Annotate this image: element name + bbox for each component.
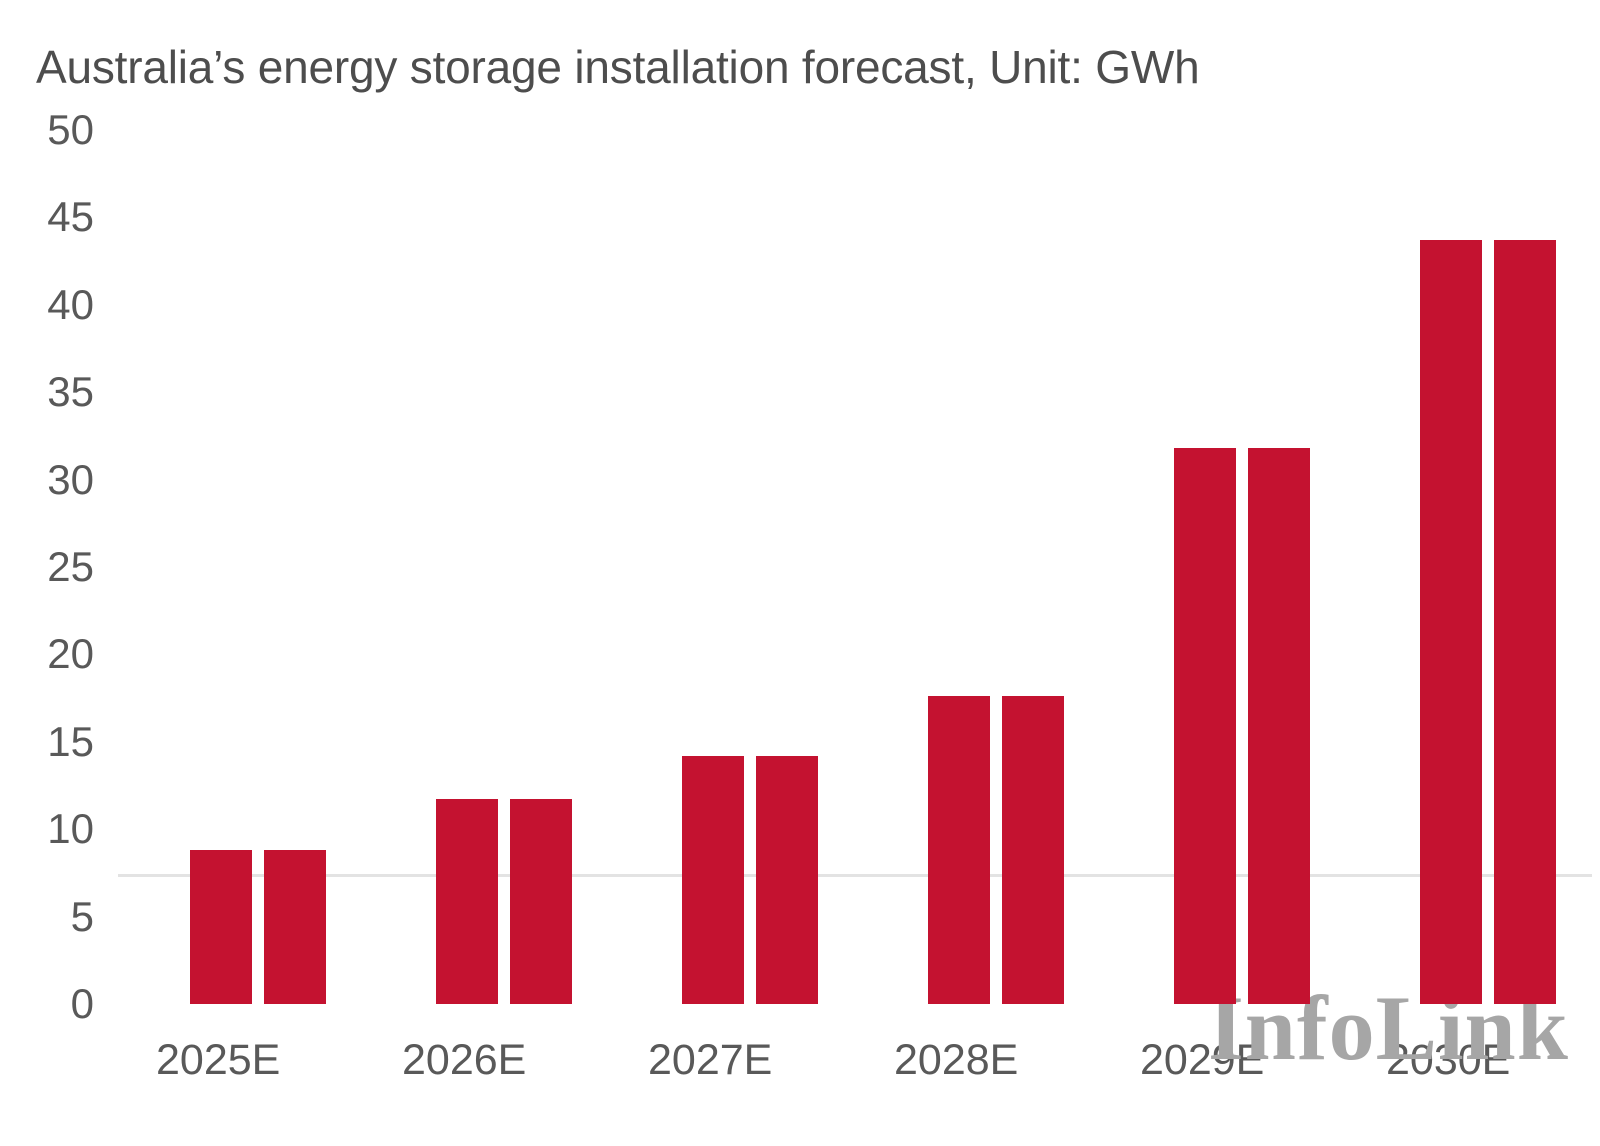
bar[interactable] bbox=[264, 850, 326, 1004]
chart-figure: Australia’s energy storage installation … bbox=[0, 0, 1600, 1146]
bar-groups bbox=[118, 130, 1594, 1004]
x-tick-label: 2025E bbox=[118, 1036, 364, 1085]
bar[interactable] bbox=[928, 696, 990, 1004]
bar[interactable] bbox=[1174, 448, 1236, 1004]
bar[interactable] bbox=[1248, 448, 1310, 1004]
bar-group bbox=[610, 130, 856, 1004]
y-tick-label: 5 bbox=[71, 893, 94, 941]
bar[interactable] bbox=[682, 756, 744, 1004]
x-tick-label: 2030E bbox=[1348, 1036, 1594, 1085]
bar-group bbox=[118, 130, 364, 1004]
x-axis: 2025E2026E2027E2028E2029E2030E bbox=[118, 1036, 1594, 1085]
y-tick-label: 30 bbox=[47, 456, 94, 504]
bar-group bbox=[364, 130, 610, 1004]
bar[interactable] bbox=[436, 799, 498, 1004]
y-tick-label: 40 bbox=[47, 281, 94, 329]
y-tick-label: 35 bbox=[47, 368, 94, 416]
bar[interactable] bbox=[190, 850, 252, 1004]
y-tick-label: 0 bbox=[71, 980, 94, 1028]
x-tick-label: 2026E bbox=[364, 1036, 610, 1085]
bar[interactable] bbox=[756, 756, 818, 1004]
x-tick-label: 2029E bbox=[1102, 1036, 1348, 1085]
y-tick-label: 15 bbox=[47, 718, 94, 766]
y-tick-label: 45 bbox=[47, 193, 94, 241]
y-tick-label: 25 bbox=[47, 543, 94, 591]
bar-group bbox=[856, 130, 1102, 1004]
y-tick-label: 10 bbox=[47, 805, 94, 853]
bar-group bbox=[1348, 130, 1594, 1004]
y-tick-label: 20 bbox=[47, 630, 94, 678]
bar[interactable] bbox=[1494, 240, 1556, 1004]
bar[interactable] bbox=[1002, 696, 1064, 1004]
x-tick-label: 2028E bbox=[856, 1036, 1102, 1085]
bars-region: InfoLink bbox=[118, 130, 1594, 1004]
x-tick-label: 2027E bbox=[610, 1036, 856, 1085]
y-tick-label: 50 bbox=[47, 106, 94, 154]
bar[interactable] bbox=[510, 799, 572, 1004]
bar[interactable] bbox=[1420, 240, 1482, 1004]
bar-group bbox=[1102, 130, 1348, 1004]
y-axis: 50454035302520151050 bbox=[0, 130, 110, 1004]
chart-title: Australia’s energy storage installation … bbox=[36, 40, 1199, 94]
plot-area: 50454035302520151050 InfoLink bbox=[0, 130, 1600, 1020]
